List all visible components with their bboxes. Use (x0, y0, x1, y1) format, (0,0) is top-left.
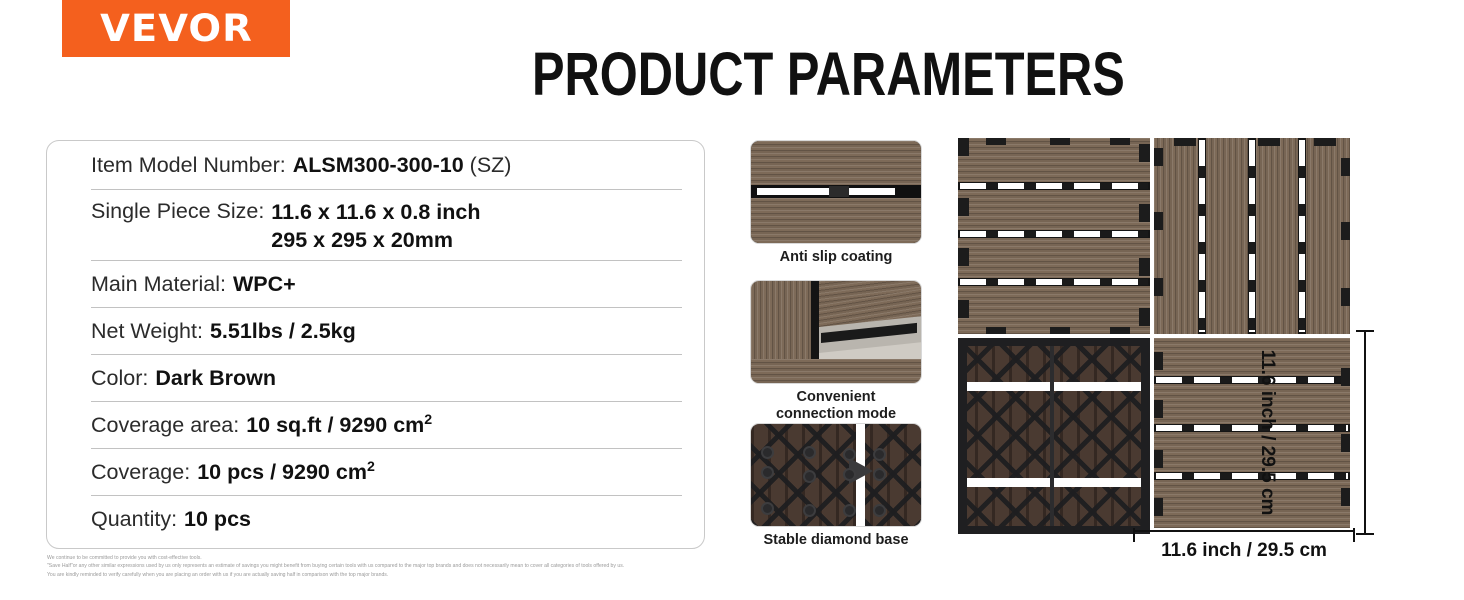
slat-gap (958, 230, 1150, 238)
feature-image-connection (750, 280, 922, 384)
spec-value: 10 pcs (184, 507, 251, 532)
spec-row-model-number: Item Model Number: ALSM300-300-10 (SZ) (47, 141, 704, 189)
center-rib (1050, 338, 1054, 534)
page-title: PRODUCT PARAMETERS (532, 44, 1108, 105)
edge-frame-top (958, 338, 1150, 346)
spec-label: Item Model Number: (91, 153, 286, 178)
spec-value: Dark Brown (155, 366, 276, 391)
slat-gap (958, 278, 1150, 286)
edge-connector (1110, 138, 1130, 145)
feature-caption: Stable diamond base (750, 532, 922, 549)
feature-image-diamond-base (750, 423, 922, 527)
edge-connector (1341, 222, 1350, 240)
edge-connector (958, 300, 969, 318)
spec-row-net-weight: Net Weight: 5.51lbs / 2.5kg (47, 308, 704, 354)
edge-connector (958, 248, 969, 266)
edge-connector (1341, 158, 1350, 176)
edge-connector (958, 198, 969, 216)
spec-row-coverage: Coverage: 10 pcs / 9290 cm2 (47, 449, 704, 495)
slat-gap (1298, 138, 1306, 334)
spec-value-superscript: 2 (424, 411, 432, 427)
edge-connector (1174, 138, 1196, 146)
edge-connector (1154, 148, 1163, 166)
feature-thumb-diamond-base: Stable diamond base (750, 423, 922, 549)
wood-tile-bottom (751, 359, 921, 384)
brand-wordmark: VEVOR (100, 10, 253, 47)
dimension-line (1133, 530, 1355, 532)
spec-value: 10 pcs / 9290 cm2 (197, 460, 375, 485)
edge-frame-left (958, 338, 967, 534)
slat-gap (1198, 138, 1206, 334)
spec-row-main-material: Main Material: WPC+ (47, 261, 704, 307)
spec-label: Net Weight: (91, 319, 203, 344)
spec-value-superscript: 2 (367, 458, 375, 474)
base-stud (761, 502, 774, 515)
spec-label: Coverage area: (91, 413, 239, 438)
base-stud (761, 446, 774, 459)
edge-connector (1050, 138, 1070, 145)
feature-thumb-anti-slip: Anti slip coating (750, 140, 922, 266)
edge-connector (1154, 352, 1163, 370)
edge-frame-right (1141, 338, 1150, 534)
slat-gap (751, 185, 921, 198)
diamond-lattice (958, 338, 1150, 534)
disclaimer-line-3: You are kindly reminded to verify carefu… (47, 571, 807, 579)
wood-slat-band (751, 198, 921, 243)
edge-connector (1139, 204, 1150, 222)
dimension-width-label: 11.6 inch / 29.5 cm (1133, 540, 1355, 562)
edge-connector (1341, 288, 1350, 306)
edge-connector (1154, 400, 1163, 418)
disclaimer: We continue to be committed to provide y… (47, 554, 807, 579)
edge-frame-bottom (958, 526, 1150, 534)
slat-gap (958, 382, 1150, 391)
edge-connector (1139, 308, 1150, 326)
spec-label: Single Piece Size: (91, 199, 264, 224)
spec-value-suffix: (SZ) (470, 153, 512, 178)
feature-caption-line1: Convenient (797, 389, 876, 405)
tile-top-left-horizontal (958, 138, 1150, 334)
feature-caption-line1: Stable diamond base (763, 532, 908, 548)
spec-row-list: Item Model Number: ALSM300-300-10 (SZ) S… (47, 141, 704, 542)
base-stud (803, 504, 816, 517)
disclaimer-line-2: "Save Half"or any other similar expressi… (47, 562, 807, 570)
feature-caption-line1: Anti slip coating (780, 249, 893, 265)
spec-value: 10 sq.ft / 9290 cm2 (246, 413, 432, 438)
base-stud (803, 470, 816, 483)
base-stud (843, 504, 856, 517)
base-stud (873, 448, 886, 461)
feature-caption: Convenient connection mode (750, 389, 922, 423)
tile-top-right-vertical (1154, 138, 1350, 334)
slat-gap (958, 478, 1150, 487)
spec-value-group: 11.6 x 11.6 x 0.8 inch 295 x 295 x 20mm (271, 199, 480, 254)
spec-row-quantity: Quantity: 10 pcs (47, 496, 704, 542)
edge-connector (1154, 278, 1163, 296)
disclaimer-line-1: We continue to be committed to provide y… (47, 554, 807, 562)
edge-connector (1139, 258, 1150, 276)
edge-connector (1050, 327, 1070, 334)
base-stud (873, 468, 886, 481)
edge-connector (1154, 212, 1163, 230)
diamond-lattice (751, 424, 921, 526)
base-stud (761, 466, 774, 479)
edge-connector (1314, 138, 1336, 146)
base-stud (843, 448, 856, 461)
feature-caption: Anti slip coating (750, 249, 922, 266)
dimension-height: 11.6 inch / 29.5 cm (1356, 330, 1412, 535)
dimension-width: 11.6 inch / 29.5 cm (1133, 528, 1355, 562)
spec-label: Coverage: (91, 460, 190, 485)
spec-label: Quantity: (91, 507, 177, 532)
tile-bottom-left-base (958, 338, 1150, 534)
spec-value-line1: 11.6 x 11.6 x 0.8 inch (271, 199, 480, 227)
edge-connector (1139, 144, 1150, 162)
feature-caption-line2: connection mode (776, 406, 896, 422)
edge-connector (1110, 327, 1130, 334)
spec-value: ALSM300-300-10 (293, 153, 464, 178)
spec-value-line2: 295 x 295 x 20mm (271, 227, 480, 255)
dimension-height-label: 11.6 inch / 29.5 cm (1165, 330, 1370, 535)
edge-connector (986, 327, 1006, 334)
edge-connector (986, 138, 1006, 145)
edge-connector (1154, 450, 1163, 468)
slat-gap (958, 182, 1150, 190)
spec-label: Main Material: (91, 272, 226, 297)
spec-panel: Item Model Number: ALSM300-300-10 (SZ) S… (46, 140, 705, 549)
edge-connector (958, 138, 969, 156)
spec-row-coverage-area: Coverage area: 10 sq.ft / 9290 cm2 (47, 402, 704, 448)
feature-thumb-connection: Convenient connection mode (750, 280, 922, 423)
brand-logo: VEVOR (62, 0, 290, 57)
edge-connector (1258, 138, 1280, 146)
base-stud (803, 446, 816, 459)
spec-row-color: Color: Dark Brown (47, 355, 704, 401)
spec-value-text: 10 pcs / 9290 cm (197, 460, 367, 484)
spec-value-text: 10 sq.ft / 9290 cm (246, 413, 424, 437)
base-stud (873, 504, 886, 517)
feature-image-anti-slip (750, 140, 922, 244)
wood-slat-band (751, 141, 921, 185)
spec-value: 5.51lbs / 2.5kg (210, 319, 356, 344)
spec-label: Color: (91, 366, 148, 391)
slat-gap (1248, 138, 1256, 334)
spec-value: WPC+ (233, 272, 296, 297)
spec-row-single-piece-size: Single Piece Size: 11.6 x 11.6 x 0.8 inc… (47, 190, 704, 260)
edge-connector (1154, 498, 1163, 516)
base-stud (843, 468, 856, 481)
